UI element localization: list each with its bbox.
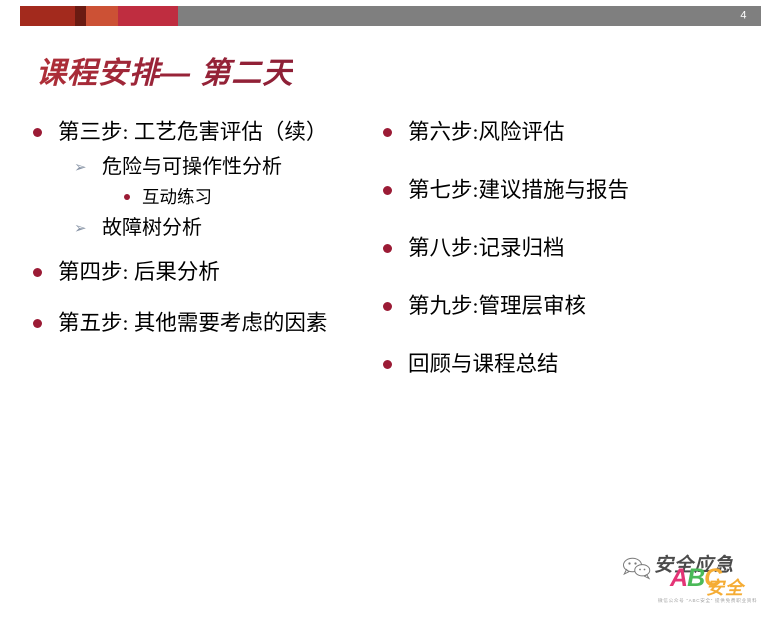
bar-segment-brick-red xyxy=(20,6,75,26)
bar-segment-orange-red xyxy=(86,6,118,26)
list-item-label: 危险与可操作性分析 xyxy=(102,156,282,178)
list-item: 第九步:管理层审核 xyxy=(380,292,761,321)
arrow-right-icon: ➢ xyxy=(74,159,87,175)
list-item-label: 第七步:建议措施与报告 xyxy=(408,178,629,202)
bullet-dot-small-icon xyxy=(124,194,130,200)
watermark-letter-a: A xyxy=(670,564,687,592)
list-item-label: 第九步:管理层审核 xyxy=(408,294,586,318)
list-item-label: 故障树分析 xyxy=(102,217,202,239)
bar-segment-gray: 4 xyxy=(178,6,761,26)
bar-segment-dark-maroon xyxy=(75,6,86,26)
bullet-column-right: 第六步:风险评估 第七步:建议措施与报告 第八步:记录归档 第九步:管理层审核 … xyxy=(368,118,761,408)
list-item: 第五步: 其他需要考虑的因素 xyxy=(30,309,368,338)
bullet-dot-icon xyxy=(33,128,42,137)
watermark-letter-b: B xyxy=(687,564,704,592)
list-item-label: 第四步: 后果分析 xyxy=(58,260,220,284)
watermark-tagline: 微信公众号 “ABC安全” 提供免费职业资料 xyxy=(658,598,757,604)
bullet-dot-icon xyxy=(33,319,42,328)
bar-left-spacer xyxy=(0,6,20,26)
bullet-dot-icon xyxy=(383,186,392,195)
watermark-row: 安全应急 ABC 安全 xyxy=(622,548,757,598)
list-item-label: 回顾与课程总结 xyxy=(408,352,559,376)
list-item: ➢ 故障树分析 xyxy=(30,214,368,242)
slide-body: 第三步: 工艺危害评估（续） ➢ 危险与可操作性分析 互动练习 ➢ 故障树分析 … xyxy=(0,118,761,408)
list-item: 第七步:建议措施与报告 xyxy=(380,176,761,205)
bullet-dot-icon xyxy=(383,360,392,369)
page-number: 4 xyxy=(740,11,747,22)
list-item: 回顾与课程总结 xyxy=(380,350,761,379)
bullet-column-left: 第三步: 工艺危害评估（续） ➢ 危险与可操作性分析 互动练习 ➢ 故障树分析 … xyxy=(0,118,368,408)
list-item: 第六步:风险评估 xyxy=(380,118,761,147)
top-decorative-bar: 4 xyxy=(0,6,761,26)
slide-title: 课程安排— 第二天 xyxy=(36,48,293,92)
slide-canvas: 4 课程安排— 第二天 第三步: 工艺危害评估（续） ➢ 危险与可操作性分析 互… xyxy=(0,0,761,624)
list-item: ➢ 危险与可操作性分析 xyxy=(30,153,368,181)
list-item-label: 第五步: 其他需要考虑的因素 xyxy=(58,311,327,335)
bullet-dot-icon xyxy=(33,268,42,277)
bullet-list-right: 第六步:风险评估 第七步:建议措施与报告 第八步:记录归档 第九步:管理层审核 … xyxy=(380,118,761,379)
bullet-dot-icon xyxy=(383,302,392,311)
list-item: 互动练习 xyxy=(30,185,368,210)
bullet-dot-icon xyxy=(383,244,392,253)
list-item: 第八步:记录归档 xyxy=(380,234,761,263)
watermark-logo: 安全应急 ABC 安全 微信公众号 “ABC安全” 提供免费职业资料 xyxy=(622,548,757,620)
bar-segment-crimson xyxy=(118,6,178,26)
wechat-icon xyxy=(622,556,652,580)
bullet-list-left: 第三步: 工艺危害评估（续） ➢ 危险与可操作性分析 互动练习 ➢ 故障树分析 … xyxy=(30,118,368,338)
bullet-dot-icon xyxy=(383,128,392,137)
list-item-label: 第六步:风险评估 xyxy=(408,120,564,144)
list-item: 第三步: 工艺危害评估（续） xyxy=(30,118,368,147)
list-item: 第四步: 后果分析 xyxy=(30,258,368,287)
arrow-right-icon: ➢ xyxy=(74,220,87,236)
list-item-label: 第八步:记录归档 xyxy=(408,236,564,260)
list-item-label: 互动练习 xyxy=(142,187,212,207)
list-item-label: 第三步: 工艺危害评估（续） xyxy=(58,120,327,144)
watermark-title-bottom: 安全 xyxy=(706,574,744,600)
